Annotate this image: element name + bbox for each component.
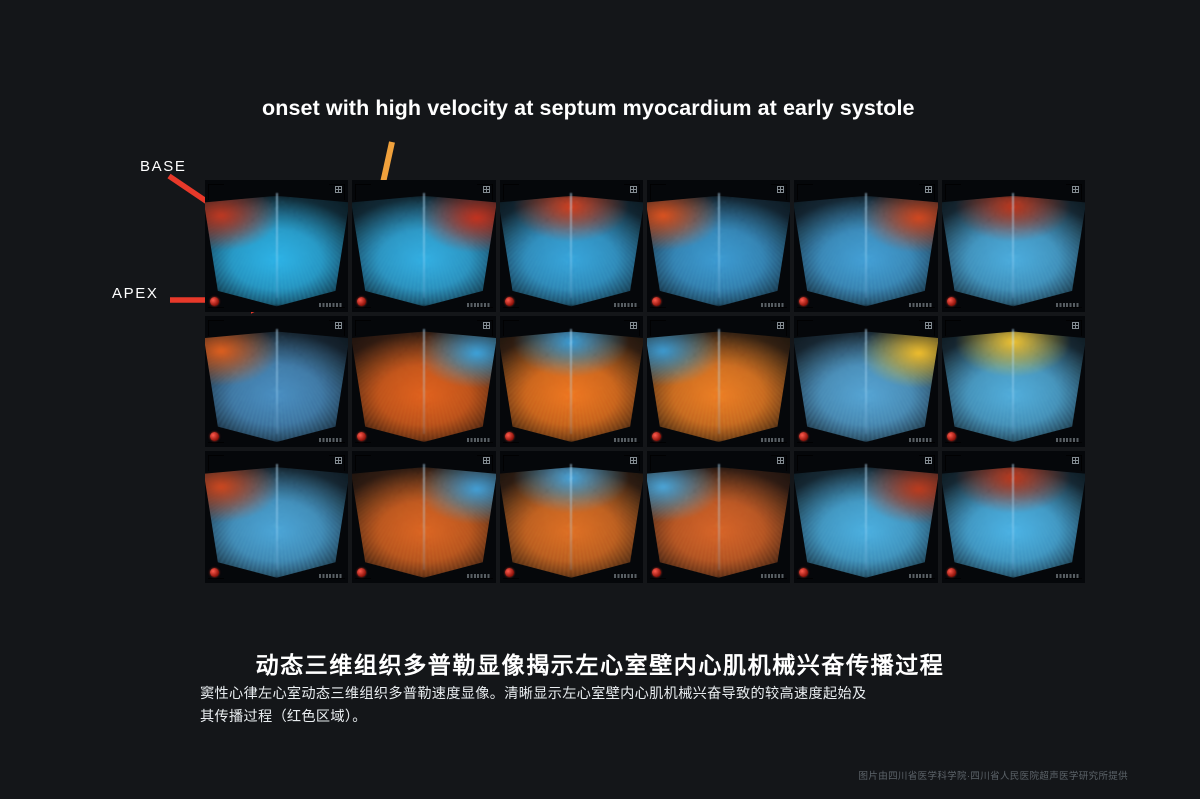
frame-cell[interactable] [205,180,348,312]
corner-bracket [650,320,651,336]
grid-layout-icon[interactable] [483,322,490,329]
corner-bracket [639,320,640,336]
corner-bracket [771,320,787,321]
frame-cell[interactable] [942,451,1085,583]
frame-readout-text [319,303,343,307]
frame-readout-text [319,438,343,442]
echocardiography-frame-grid [205,180,1085,583]
corner-bracket [503,578,519,579]
corner-bracket [503,184,519,185]
corner-bracket [771,578,787,579]
scanner-logo-icon [357,568,366,577]
frame-cell[interactable] [647,316,790,448]
septum-midline [570,329,572,434]
corner-bracket [945,320,961,321]
frame-cell[interactable] [647,451,790,583]
corner-bracket [650,320,666,321]
septum-midline [276,193,278,298]
corner-bracket [624,307,640,308]
corner-bracket [919,578,935,579]
scanner-logo-icon [799,297,808,306]
corner-bracket [934,455,935,471]
corner-bracket [477,578,493,579]
corner-bracket [797,455,798,471]
corner-bracket [477,184,493,185]
corner-bracket [329,184,345,185]
frame-readout-text [1056,438,1080,442]
corner-bracket [503,442,519,443]
corner-bracket [208,455,224,456]
corner-bracket [208,320,224,321]
corner-bracket [477,307,493,308]
corner-bracket [1066,184,1082,185]
grid-layout-icon[interactable] [925,457,932,464]
corner-bracket [329,442,345,443]
corner-bracket [624,578,640,579]
scanner-logo-icon [652,568,661,577]
grid-layout-icon[interactable] [1072,457,1079,464]
corner-bracket [650,578,666,579]
image-credit: 图片由四川省医学科学院·四川省人民医院超声医学研究所提供 [859,768,1128,782]
grid-layout-icon[interactable] [335,322,342,329]
corner-bracket [797,320,813,321]
corner-bracket [624,320,640,321]
frame-readout-text [909,574,933,578]
septum-midline [276,329,278,434]
corner-bracket [650,184,666,185]
grid-layout-icon[interactable] [777,457,784,464]
caption-body-line-1: 窦性心律左心室动态三维组织多普勒速度显像。清晰显示左心室壁内心肌机械兴奋导致的较… [200,683,1030,706]
corner-bracket [1081,184,1082,200]
corner-bracket [503,184,504,200]
frame-cell[interactable] [500,316,643,448]
corner-bracket [1081,320,1082,336]
corner-bracket [477,320,493,321]
corner-bracket [797,455,813,456]
septum-midline [718,329,720,434]
corner-bracket [503,320,519,321]
corner-bracket [945,184,946,200]
frame-cell[interactable] [352,316,495,448]
frame-readout-text [1056,303,1080,307]
corner-bracket [797,184,798,200]
frame-cell[interactable] [500,451,643,583]
scanner-logo-icon [210,432,219,441]
frame-cell[interactable] [942,180,1085,312]
corner-bracket [208,442,224,443]
frame-readout-text [467,303,491,307]
corner-bracket [329,320,345,321]
corner-bracket [208,455,209,471]
corner-bracket [797,578,813,579]
corner-bracket [650,455,651,471]
corner-bracket [650,307,666,308]
corner-bracket [355,455,371,456]
corner-bracket [355,184,356,200]
scanner-logo-icon [652,432,661,441]
corner-bracket [786,455,787,471]
corner-bracket [624,442,640,443]
slide-canvas: onset with high velocity at septum myoca… [0,0,1200,799]
grid-layout-icon[interactable] [777,322,784,329]
corner-bracket [797,184,813,185]
corner-bracket [650,442,666,443]
corner-bracket [355,578,371,579]
corner-bracket [355,320,371,321]
corner-bracket [786,184,787,200]
corner-bracket [945,578,961,579]
septum-midline [718,464,720,569]
corner-bracket [919,442,935,443]
scanner-logo-icon [799,568,808,577]
corner-bracket [919,320,935,321]
frame-cell[interactable] [205,316,348,448]
grid-layout-icon[interactable] [1072,322,1079,329]
scanner-logo-icon [210,297,219,306]
septum-midline [570,464,572,569]
grid-layout-icon[interactable] [335,457,342,464]
scanner-logo-icon [947,568,956,577]
corner-bracket [945,442,961,443]
septum-midline [423,464,425,569]
caption-body: 窦性心律左心室动态三维组织多普勒速度显像。清晰显示左心室壁内心肌机械兴奋导致的较… [200,683,1030,729]
corner-bracket [492,184,493,200]
frame-readout-text [761,438,785,442]
corner-bracket [208,307,224,308]
frame-cell[interactable] [647,180,790,312]
corner-bracket [477,455,493,456]
corner-bracket [208,578,224,579]
corner-bracket [503,455,504,471]
corner-bracket [355,307,371,308]
corner-bracket [797,442,813,443]
corner-bracket [329,455,345,456]
scanner-logo-icon [799,432,808,441]
corner-bracket [208,184,209,200]
corner-bracket [624,455,640,456]
corner-bracket [344,455,345,471]
frame-cell[interactable] [500,180,643,312]
grid-layout-icon[interactable] [925,322,932,329]
grid-layout-icon[interactable] [925,186,932,193]
septum-midline [865,329,867,434]
english-title: onset with high velocity at septum myoca… [262,96,1062,121]
corner-bracket [208,320,209,336]
septum-midline [865,464,867,569]
apex-label: APEX [112,285,158,302]
septum-midline [276,464,278,569]
frame-readout-text [1056,574,1080,578]
corner-bracket [208,184,224,185]
frame-cell[interactable] [794,180,937,312]
grid-layout-icon[interactable] [1072,186,1079,193]
corner-bracket [1066,455,1082,456]
corner-bracket [1066,442,1082,443]
frame-cell[interactable] [794,451,937,583]
frame-cell[interactable] [942,316,1085,448]
corner-bracket [355,455,356,471]
corner-bracket [492,455,493,471]
corner-bracket [650,455,666,456]
corner-bracket [624,184,640,185]
scanner-logo-icon [505,568,514,577]
septum-midline [423,329,425,434]
corner-bracket [771,455,787,456]
corner-bracket [477,442,493,443]
corner-bracket [771,307,787,308]
scanner-logo-icon [652,297,661,306]
corner-bracket [650,184,651,200]
corner-bracket [1066,578,1082,579]
caption-heading: 动态三维组织多普勒显像揭示左心室壁内心肌机械兴奋传播过程 [0,646,1200,680]
corner-bracket [329,307,345,308]
corner-bracket [934,320,935,336]
septum-midline [1012,464,1014,569]
frame-readout-text [761,303,785,307]
corner-bracket [355,184,371,185]
corner-bracket [934,184,935,200]
corner-bracket [344,320,345,336]
corner-bracket [919,307,935,308]
corner-bracket [945,455,946,471]
corner-bracket [503,307,519,308]
septum-midline [570,193,572,298]
corner-bracket [503,455,519,456]
frame-readout-text [467,574,491,578]
scanner-logo-icon [357,432,366,441]
scanner-logo-icon [357,297,366,306]
scanner-logo-icon [505,432,514,441]
septum-midline [865,193,867,298]
corner-bracket [344,184,345,200]
frame-cell[interactable] [794,316,937,448]
grid-layout-icon[interactable] [335,186,342,193]
corner-bracket [355,320,356,336]
grid-layout-icon[interactable] [483,457,490,464]
corner-bracket [771,442,787,443]
corner-bracket [919,184,935,185]
frame-cell[interactable] [352,451,495,583]
scanner-logo-icon [210,568,219,577]
frame-readout-text [614,574,638,578]
septum-midline [718,193,720,298]
corner-bracket [797,307,813,308]
corner-bracket [945,184,961,185]
frame-readout-text [467,438,491,442]
corner-bracket [329,578,345,579]
caption-body-line-2: 其传播过程（红色区域）。 [200,706,1030,729]
frame-cell[interactable] [352,180,495,312]
corner-bracket [639,184,640,200]
septum-midline [1012,193,1014,298]
corner-bracket [771,184,787,185]
frame-readout-text [614,438,638,442]
grid-layout-icon[interactable] [630,186,637,193]
grid-layout-icon[interactable] [777,186,784,193]
grid-layout-icon[interactable] [630,322,637,329]
corner-bracket [797,320,798,336]
frame-readout-text [909,438,933,442]
corner-bracket [1066,320,1082,321]
frame-readout-text [761,574,785,578]
frame-readout-text [614,303,638,307]
scanner-logo-icon [505,297,514,306]
septum-midline [423,193,425,298]
grid-layout-icon[interactable] [630,457,637,464]
corner-bracket [1066,307,1082,308]
corner-bracket [945,320,946,336]
septum-midline [1012,329,1014,434]
corner-bracket [786,320,787,336]
grid-layout-icon[interactable] [483,186,490,193]
scanner-logo-icon [947,432,956,441]
base-label: BASE [140,158,186,175]
corner-bracket [503,320,504,336]
corner-bracket [355,442,371,443]
frame-cell[interactable] [205,451,348,583]
frame-readout-text [319,574,343,578]
scanner-logo-icon [947,297,956,306]
corner-bracket [945,307,961,308]
frame-readout-text [909,303,933,307]
corner-bracket [492,320,493,336]
corner-bracket [919,455,935,456]
corner-bracket [1081,455,1082,471]
corner-bracket [639,455,640,471]
corner-bracket [945,455,961,456]
